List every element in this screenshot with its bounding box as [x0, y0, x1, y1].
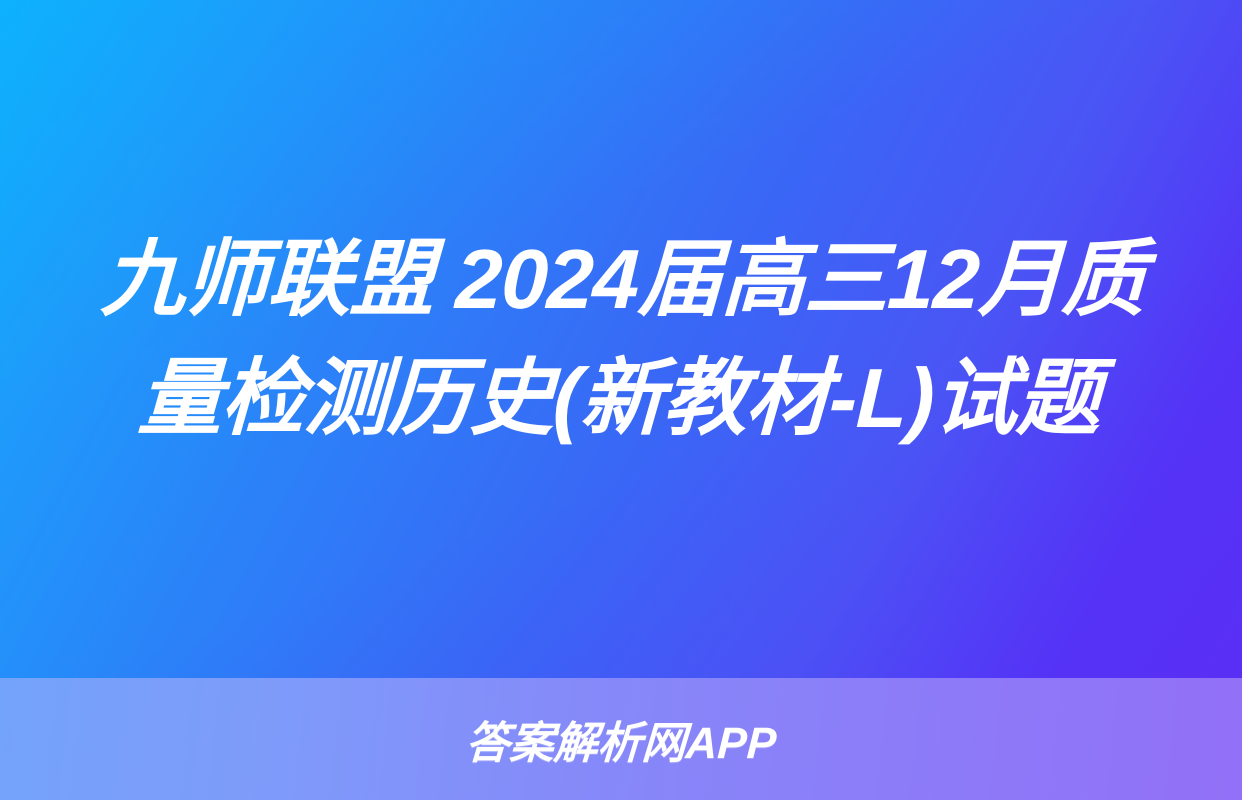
watermark-band: 答案解析网APP [0, 678, 1242, 800]
exam-cover-poster: 九师联盟 2024届高三12月质量检测历史(新教材-L)试题 答案解析网APP [0, 0, 1242, 800]
page-title: 九师联盟 2024届高三12月质量检测历史(新教材-L)试题 [70, 220, 1172, 459]
watermark-text: 答案解析网APP [464, 707, 778, 771]
title-container: 九师联盟 2024届高三12月质量检测历史(新教材-L)试题 [0, 0, 1242, 678]
